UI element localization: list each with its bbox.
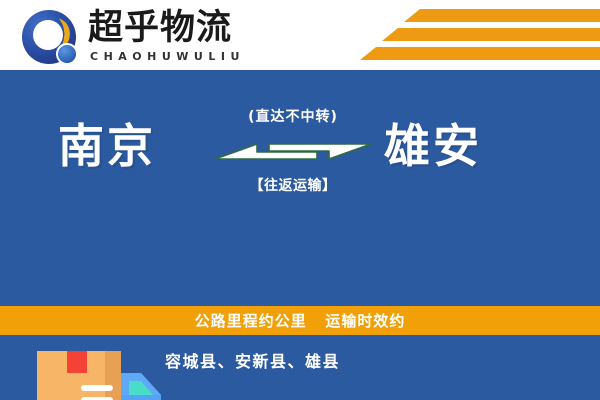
brand-name-en: CHAOHUWULIU [90,50,245,63]
orange-speed-stripes-icon [330,6,600,64]
brand-block: 超乎物流 CHAOHUWULIU [22,6,292,66]
logistics-route-poster: 超乎物流 CHAOHUWULIU 南京 (直达不中转) [0,0,600,400]
origin-city-label: 南京 [58,118,156,174]
header-bar: 超乎物流 CHAOHUWULIU [0,0,600,70]
info-bar: 公路里程约公里 运输时效约 [0,306,600,335]
info-bar-text: 公路里程约公里 运输时效约 [195,310,406,331]
blue-body-panel: 南京 (直达不中转) 【往返运输】 雄安 公路里程约公里 运输时效约 [0,70,600,400]
destination-counties-label: 容城县、安新县、雄县 [165,348,340,372]
stripe-1 [404,9,600,22]
logo-dot-shape [56,43,78,65]
bidirectional-arrow-icon [213,134,373,168]
stripe-3 [360,47,600,60]
route-section: 南京 (直达不中转) 【往返运输】 雄安 [0,70,600,233]
stripe-2 [382,28,600,41]
delivery-truck-icon [25,343,173,400]
destination-city-label: 雄安 [384,118,482,174]
roundtrip-note: 【往返运输】 [210,177,376,195]
chaohu-logo-icon [22,10,80,68]
route-middle-block: (直达不中转) 【往返运输】 [210,108,376,218]
bottom-section: 容城县、安新县、雄县 [0,335,600,400]
brand-name-cn: 超乎物流 [88,8,232,48]
direct-route-note: (直达不中转) [210,108,376,126]
